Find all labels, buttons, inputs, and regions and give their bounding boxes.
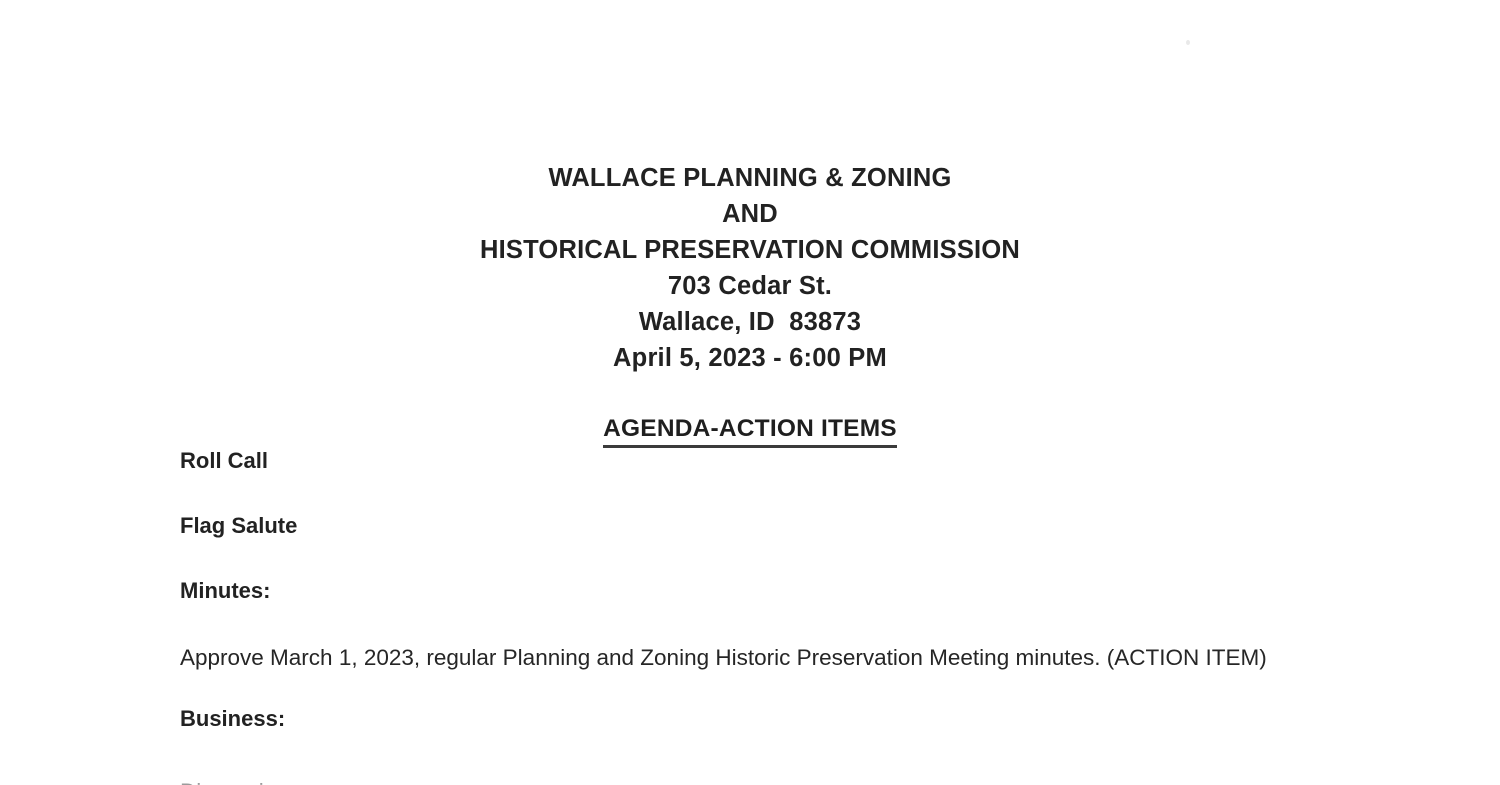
scan-artifact-speck	[1186, 40, 1190, 45]
document-header: WALLACE PLANNING & ZONING AND HISTORICAL…	[0, 160, 1500, 376]
agenda-minutes-paragraph: Approve March 1, 2023, regular Planning …	[180, 641, 1305, 675]
agenda-item-business-heading: Business:	[180, 705, 1310, 733]
agenda-item-minutes-heading: Minutes:	[180, 577, 1310, 605]
header-line-and: AND	[0, 196, 1500, 232]
header-line-organization: WALLACE PLANNING & ZONING	[0, 160, 1500, 196]
agenda-title: AGENDA-ACTION ITEMS	[603, 414, 897, 448]
header-line-street-address: 703 Cedar St.	[0, 268, 1500, 304]
header-line-commission: HISTORICAL PRESERVATION COMMISSION	[0, 232, 1500, 268]
scanned-agenda-page: WALLACE PLANNING & ZONING AND HISTORICAL…	[0, 0, 1500, 785]
agenda-item-roll-call: Roll Call	[180, 447, 1310, 475]
header-line-date-time: April 5, 2023 - 6:00 PM	[0, 340, 1500, 376]
agenda-item-flag-salute: Flag Salute	[180, 512, 1310, 540]
agenda-body: Roll Call Flag Salute Minutes: Approve M…	[180, 447, 1310, 755]
header-line-city-state-zip: Wallace, ID 83873	[0, 304, 1500, 340]
clipped-bottom-line-container: Discussion	[180, 775, 1360, 785]
agenda-title-container: AGENDA-ACTION ITEMS	[0, 414, 1500, 448]
clipped-bottom-line: Discussion	[180, 779, 289, 785]
